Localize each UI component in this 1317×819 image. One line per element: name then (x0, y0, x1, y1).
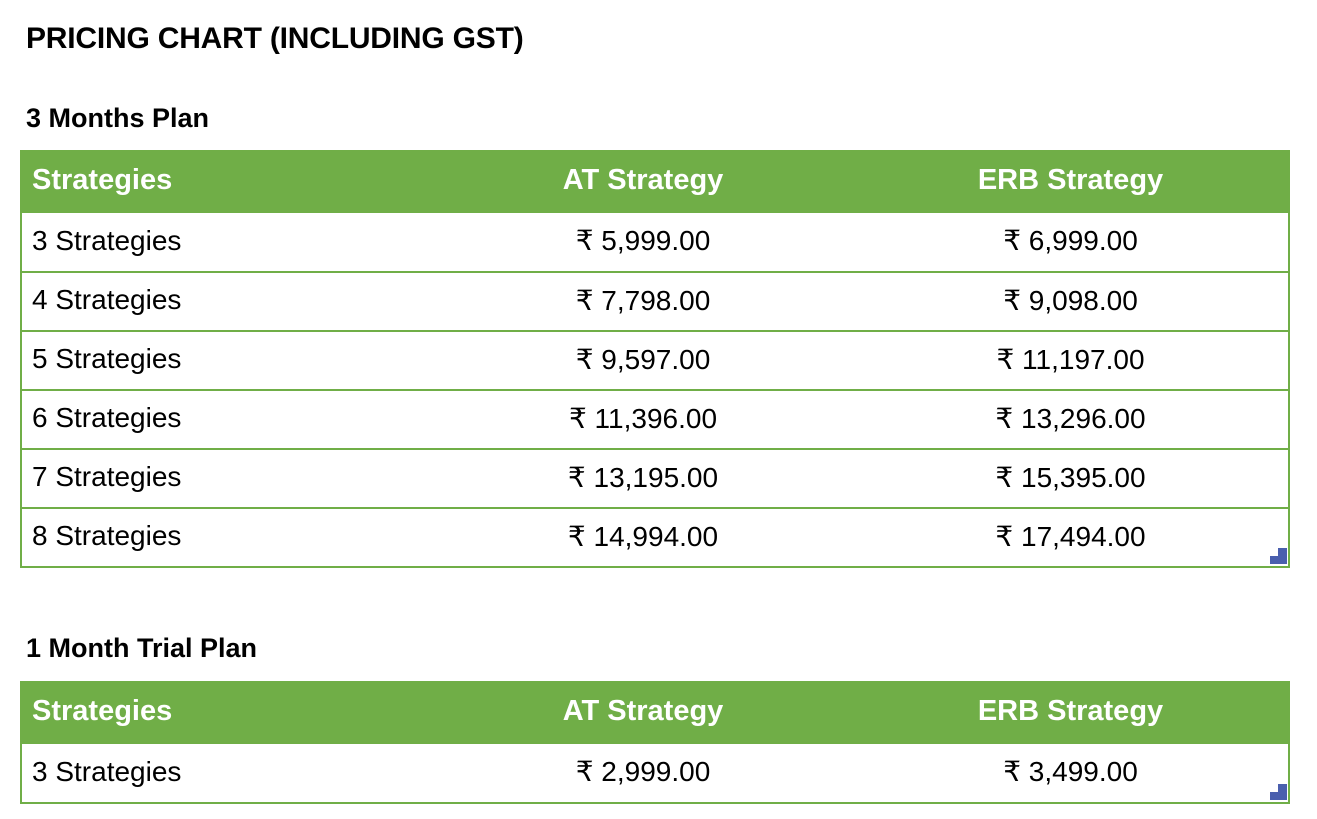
pricing-chart-page: PRICING CHART (INCLUDING GST) 3 Months P… (0, 0, 1317, 819)
table-header-row: Strategies AT Strategy ERB Strategy (21, 151, 1289, 213)
table-row: 3 Strategies ₹ 5,999.00 ₹ 6,999.00 (21, 213, 1289, 272)
cell-erb-price: ₹ 17,494.00 (853, 508, 1289, 567)
page-title: PRICING CHART (INCLUDING GST) (26, 22, 524, 56)
table-row: 5 Strategies ₹ 9,597.00 ₹ 11,197.00 (21, 331, 1289, 390)
cell-strategies: 3 Strategies (21, 744, 433, 803)
cell-at-price: ₹ 5,999.00 (433, 213, 853, 272)
column-header-strategies: Strategies (21, 682, 433, 744)
table-row: 7 Strategies ₹ 13,195.00 ₹ 15,395.00 (21, 449, 1289, 508)
cell-strategies: 4 Strategies (21, 272, 433, 331)
cell-at-price: ₹ 9,597.00 (433, 331, 853, 390)
cell-at-price: ₹ 14,994.00 (433, 508, 853, 567)
cell-erb-price: ₹ 3,499.00 (853, 744, 1289, 803)
cell-erb-price: ₹ 13,296.00 (853, 390, 1289, 449)
cell-at-price: ₹ 13,195.00 (433, 449, 853, 508)
cell-at-price: ₹ 11,396.00 (433, 390, 853, 449)
table-body-1-month: 3 Strategies ₹ 2,999.00 ₹ 3,499.00 (21, 744, 1289, 803)
resize-handle-step-lower (1270, 556, 1280, 564)
table-resize-handle-icon[interactable] (1270, 784, 1288, 800)
table-header-3-months: Strategies AT Strategy ERB Strategy (21, 151, 1289, 213)
pricing-table-3-months-plan: Strategies AT Strategy ERB Strategy 3 St… (20, 150, 1290, 568)
table-header-row: Strategies AT Strategy ERB Strategy (21, 682, 1289, 744)
table-row: 3 Strategies ₹ 2,999.00 ₹ 3,499.00 (21, 744, 1289, 803)
cell-at-price: ₹ 7,798.00 (433, 272, 853, 331)
cell-strategies: 5 Strategies (21, 331, 433, 390)
cell-erb-price: ₹ 15,395.00 (853, 449, 1289, 508)
cell-at-price: ₹ 2,999.00 (433, 744, 853, 803)
section-title-1-month-trial-plan: 1 Month Trial Plan (26, 633, 257, 664)
table-row: 6 Strategies ₹ 11,396.00 ₹ 13,296.00 (21, 390, 1289, 449)
cell-erb-price: ₹ 11,197.00 (853, 331, 1289, 390)
resize-handle-step-lower (1270, 792, 1280, 800)
column-header-strategies: Strategies (21, 151, 433, 213)
table-resize-handle-icon[interactable] (1270, 548, 1288, 564)
pricing-table-1-month-trial-plan: Strategies AT Strategy ERB Strategy 3 St… (20, 681, 1290, 804)
cell-strategies: 8 Strategies (21, 508, 433, 567)
cell-strategies: 6 Strategies (21, 390, 433, 449)
table-body-3-months: 3 Strategies ₹ 5,999.00 ₹ 6,999.00 4 Str… (21, 213, 1289, 567)
cell-erb-price: ₹ 9,098.00 (853, 272, 1289, 331)
section-title-3-months-plan: 3 Months Plan (26, 103, 209, 134)
table-row: 4 Strategies ₹ 7,798.00 ₹ 9,098.00 (21, 272, 1289, 331)
column-header-at-strategy: AT Strategy (433, 682, 853, 744)
cell-strategies: 7 Strategies (21, 449, 433, 508)
cell-strategies: 3 Strategies (21, 213, 433, 272)
column-header-at-strategy: AT Strategy (433, 151, 853, 213)
table-header-1-month: Strategies AT Strategy ERB Strategy (21, 682, 1289, 744)
column-header-erb-strategy: ERB Strategy (853, 151, 1289, 213)
column-header-erb-strategy: ERB Strategy (853, 682, 1289, 744)
table-row: 8 Strategies ₹ 14,994.00 ₹ 17,494.00 (21, 508, 1289, 567)
cell-erb-price: ₹ 6,999.00 (853, 213, 1289, 272)
